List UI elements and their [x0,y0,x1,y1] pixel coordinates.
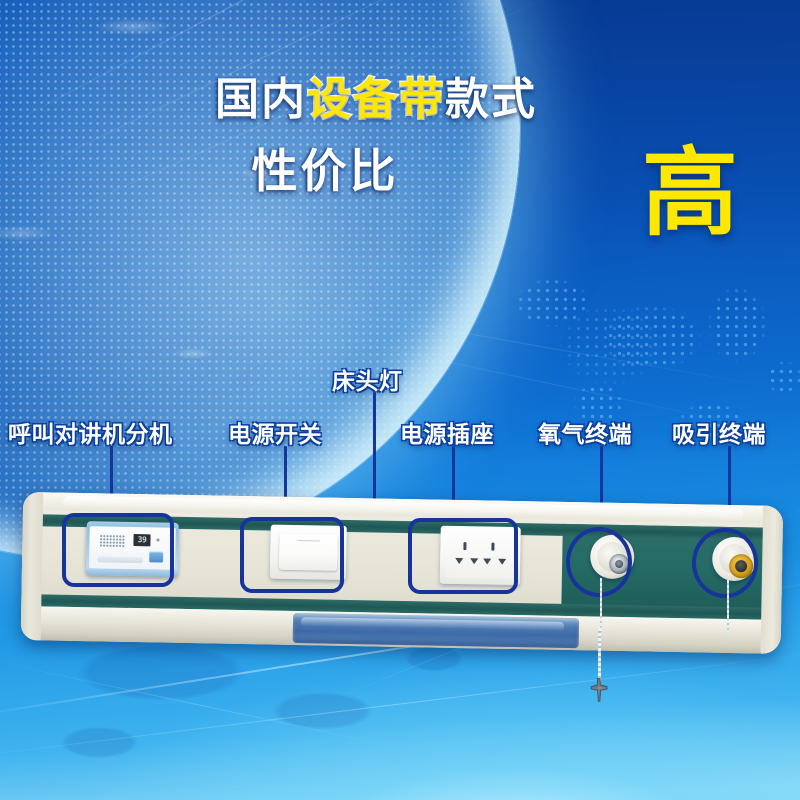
cross-weight-icon [588,678,610,702]
bed-head-lamp-diffuser[interactable] [293,613,580,648]
panel-right-end-cap [760,504,783,654]
pull-cord-weight-icon[interactable] [588,678,610,700]
callout-label-power-socket: 电源插座 [400,415,494,449]
headline-line-1: 国内设备带款式 [0,78,800,122]
headline-part-1: 国内 [215,75,307,124]
panel-left-end-cap [21,492,44,642]
halftone-worldmap-center [520,270,700,420]
lamp-gloss [301,617,564,631]
headline-part-2-highlight: 设备带 [307,75,445,124]
headline-emphasis-character: 高 [642,146,738,242]
callout-label-power-switch: 电源开关 [228,415,322,449]
promo-banner: 国内设备带款式 性价比 高 呼叫对讲机分机 电源开关 床头灯 电源插座 氧气终端… [0,0,800,800]
callout-label-nurse-call-intercom: 呼叫对讲机分机 [8,415,173,449]
highlight-circle-suction-terminal [692,528,758,598]
highlight-box-power-switch [240,517,344,593]
oxygen-terminal-pull-cord [600,578,602,632]
highlight-box-nurse-call-intercom [62,513,174,587]
headline-subtitle: 性价比 [252,145,399,197]
callout-label-bed-head-lamp: 床头灯 [332,362,403,396]
suction-terminal-pull-cord [727,580,729,632]
highlight-box-power-socket [408,518,518,594]
callout-label-oxygen-terminal: 氧气终端 [538,415,632,449]
callout-label-suction-terminal: 吸引终端 [672,415,766,449]
highlight-circle-oxygen-terminal [566,527,632,597]
headline-part-3: 款式 [445,75,537,124]
